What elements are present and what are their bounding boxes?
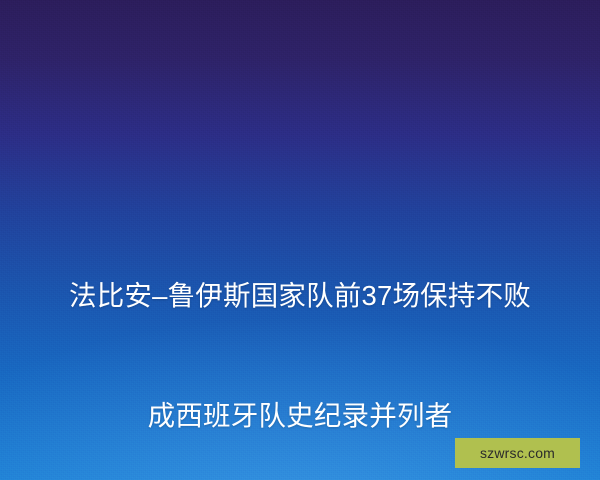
watermark-badge: szwrsc.com — [455, 438, 580, 468]
headline-line-2: 成西班牙队史纪录并列者 — [24, 396, 576, 436]
headline-line-1: 法比安–鲁伊斯国家队前37场保持不败 — [24, 276, 576, 316]
watermark-text: szwrsc.com — [480, 446, 555, 460]
title-card: 法比安–鲁伊斯国家队前37场保持不败 成西班牙队史纪录并列者 szwrsc.co… — [0, 0, 600, 480]
